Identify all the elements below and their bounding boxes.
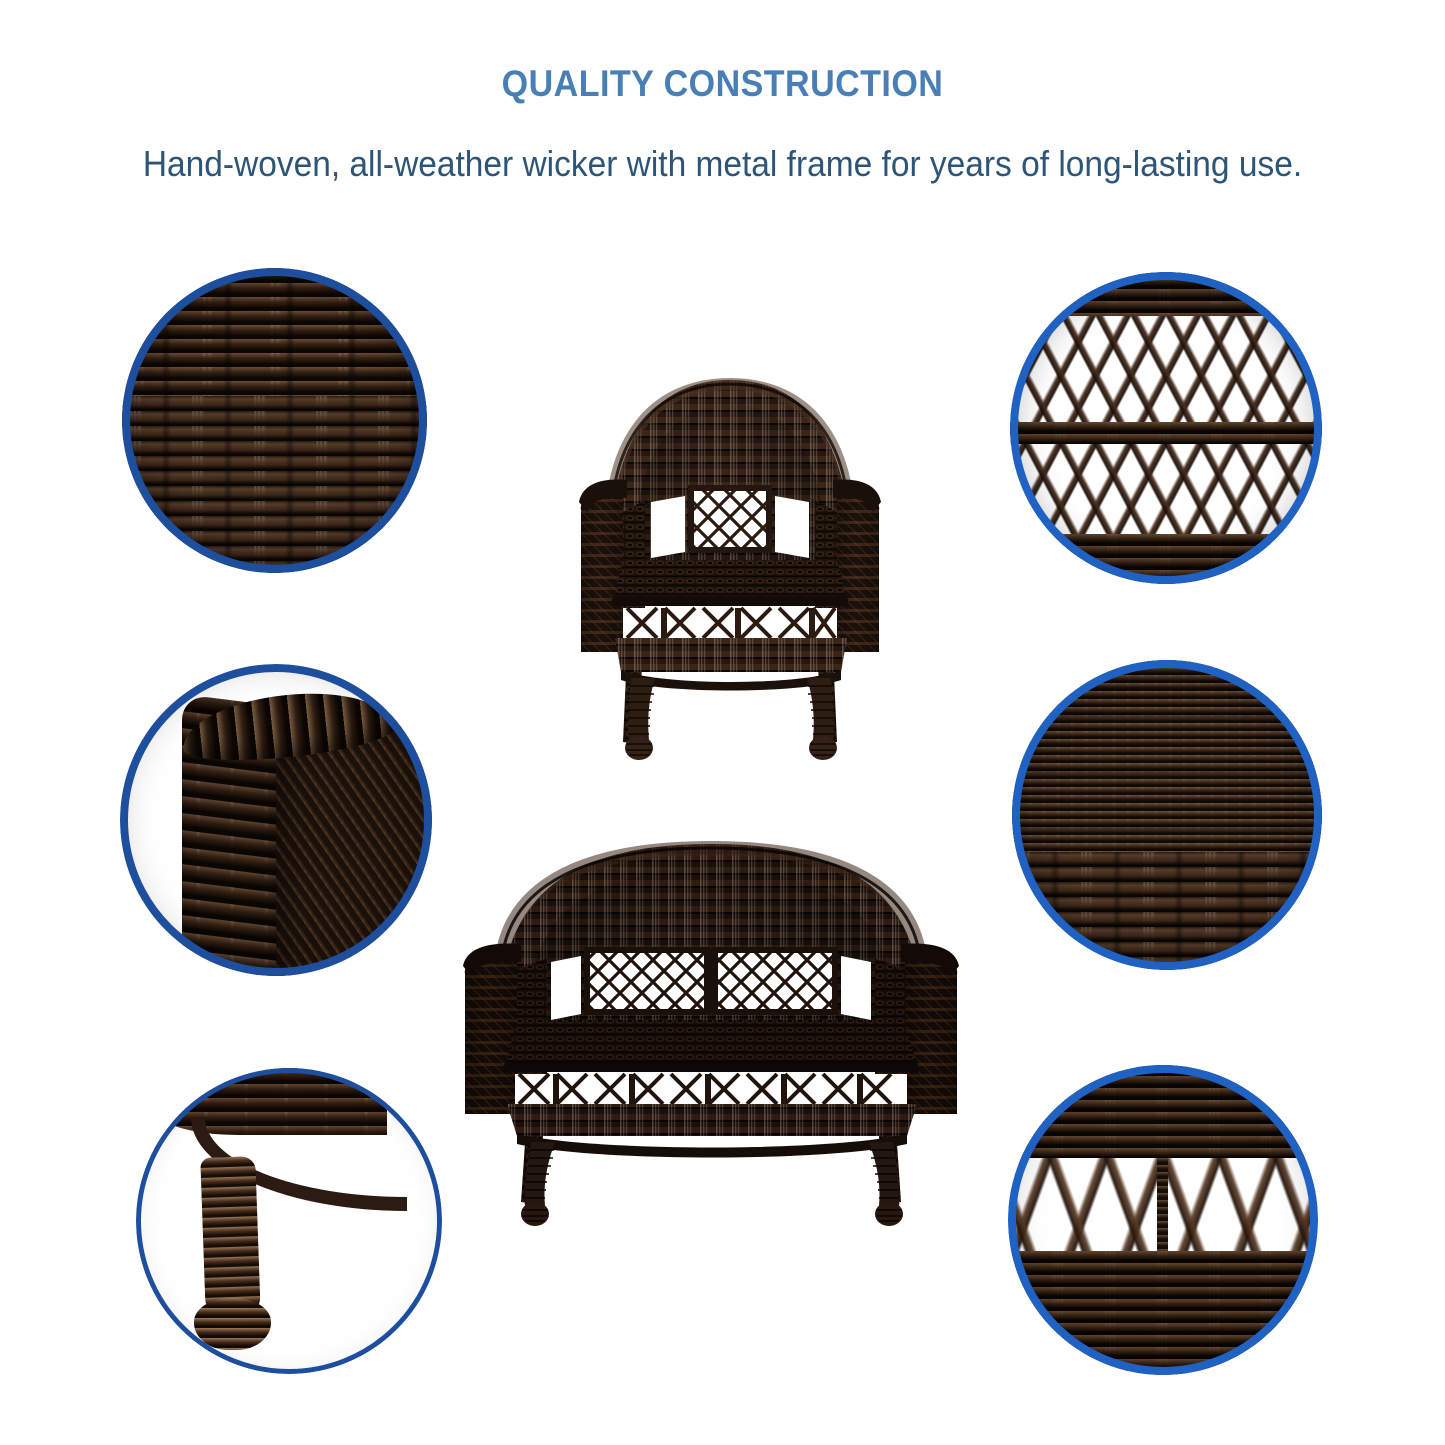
diamond-lattice-texture [1010,272,1322,584]
wicker-basketweave-texture [122,268,427,573]
armrest-corner-texture [120,664,432,976]
quality-construction-infographic: QUALITY CONSTRUCTION Hand-woven, all-wea… [0,0,1445,1445]
detail-circle-mid-right [1012,660,1322,970]
leg-detail-texture [136,1068,442,1374]
product-chair [565,352,895,764]
page-title: QUALITY CONSTRUCTION [58,63,1387,105]
detail-circle-top-left [122,268,427,573]
x-lattice-texture [1008,1065,1318,1375]
header: QUALITY CONSTRUCTION Hand-woven, all-wea… [0,0,1445,185]
detail-circle-mid-left [120,664,432,976]
loveseat-illustration [455,828,967,1230]
detail-circle-bottom-left [136,1068,442,1374]
page-subtitle: Hand-woven, all-weather wicker with meta… [51,143,1395,185]
chair-illustration [565,352,895,764]
detail-circle-top-right [1010,272,1322,584]
fine-weave-texture [1012,660,1322,970]
detail-circle-bottom-right [1008,1065,1318,1375]
product-loveseat [455,828,967,1230]
